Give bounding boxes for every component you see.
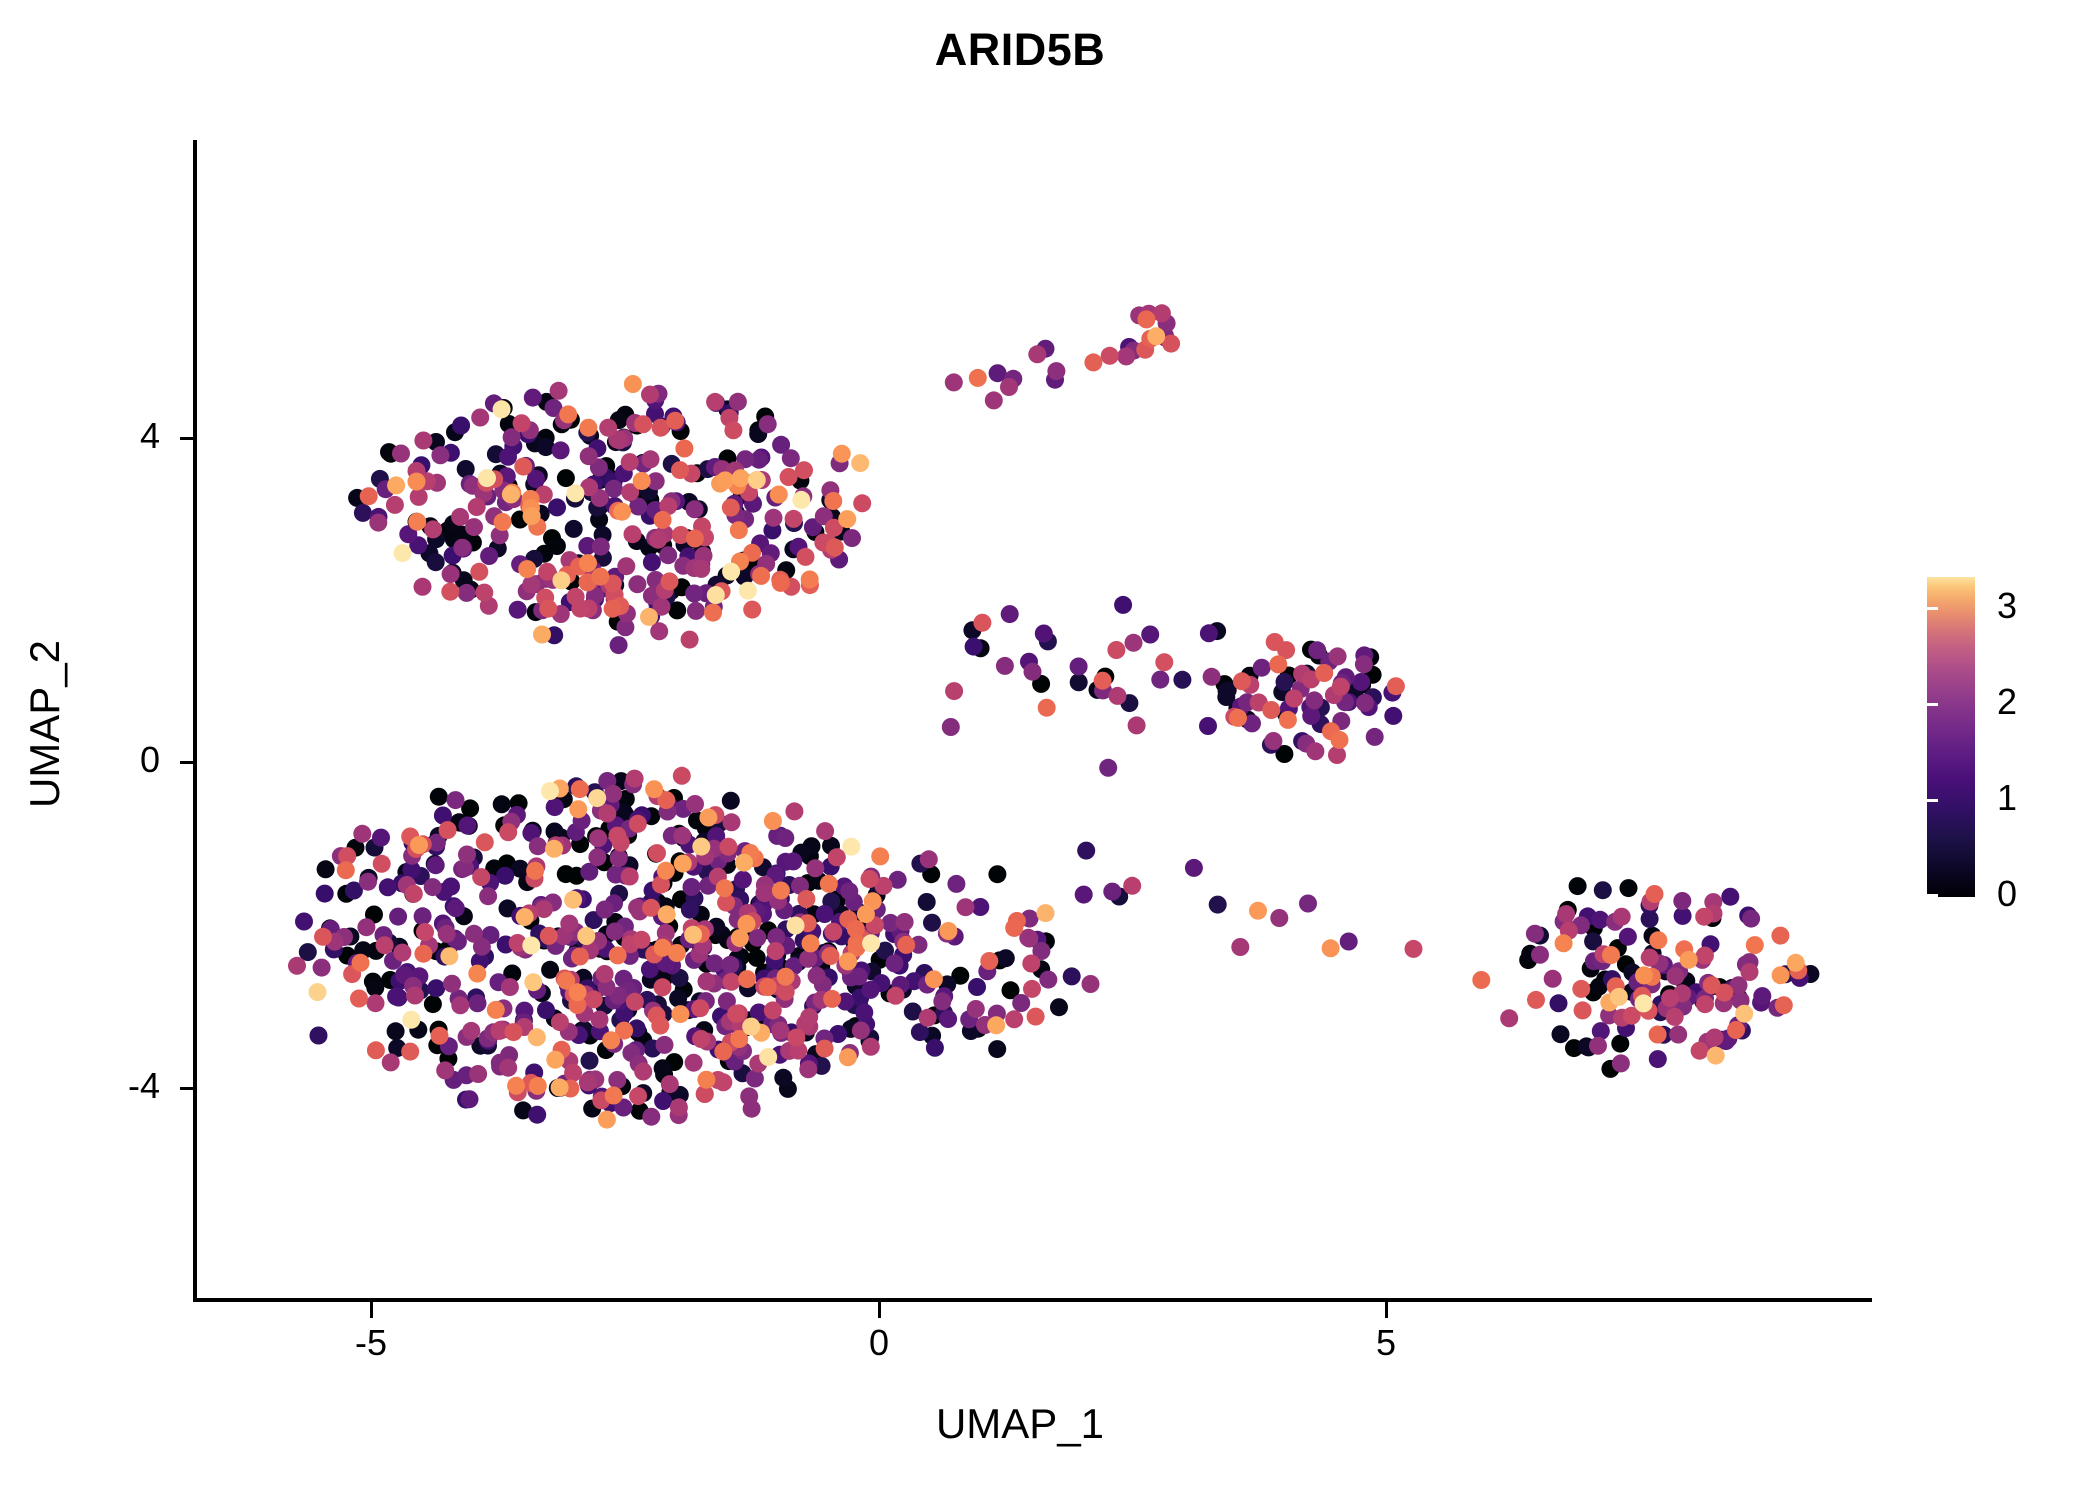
colorbar-label-3: 3 bbox=[1997, 585, 2057, 627]
colorbar-label-0: 0 bbox=[1997, 873, 2057, 915]
colorbar-tick-3-right bbox=[2066, 607, 2077, 610]
colorbar-tick-2-right bbox=[2066, 703, 2077, 706]
scatter-points-layer bbox=[0, 0, 2100, 1500]
feature-plot-figure: ARID5B 4 0 -4 -5 0 5 UMAP_1 UMAP_2 3 2 1… bbox=[0, 0, 2100, 1500]
colorbar-label-2: 2 bbox=[1997, 681, 2057, 723]
colorbar-label-1: 1 bbox=[1997, 777, 2057, 819]
colorbar-tick-2-left bbox=[1927, 703, 1938, 706]
colorbar-legend: 3 2 1 0 bbox=[1927, 577, 2077, 897]
colorbar-tick-3-left bbox=[1927, 607, 1938, 610]
colorbar-gradient bbox=[1927, 577, 1975, 897]
colorbar-tick-0-right bbox=[2066, 894, 2077, 897]
colorbar-tick-1-right bbox=[2066, 799, 2077, 802]
colorbar-tick-0-left bbox=[1927, 894, 1938, 897]
colorbar-tick-1-left bbox=[1927, 799, 1938, 802]
